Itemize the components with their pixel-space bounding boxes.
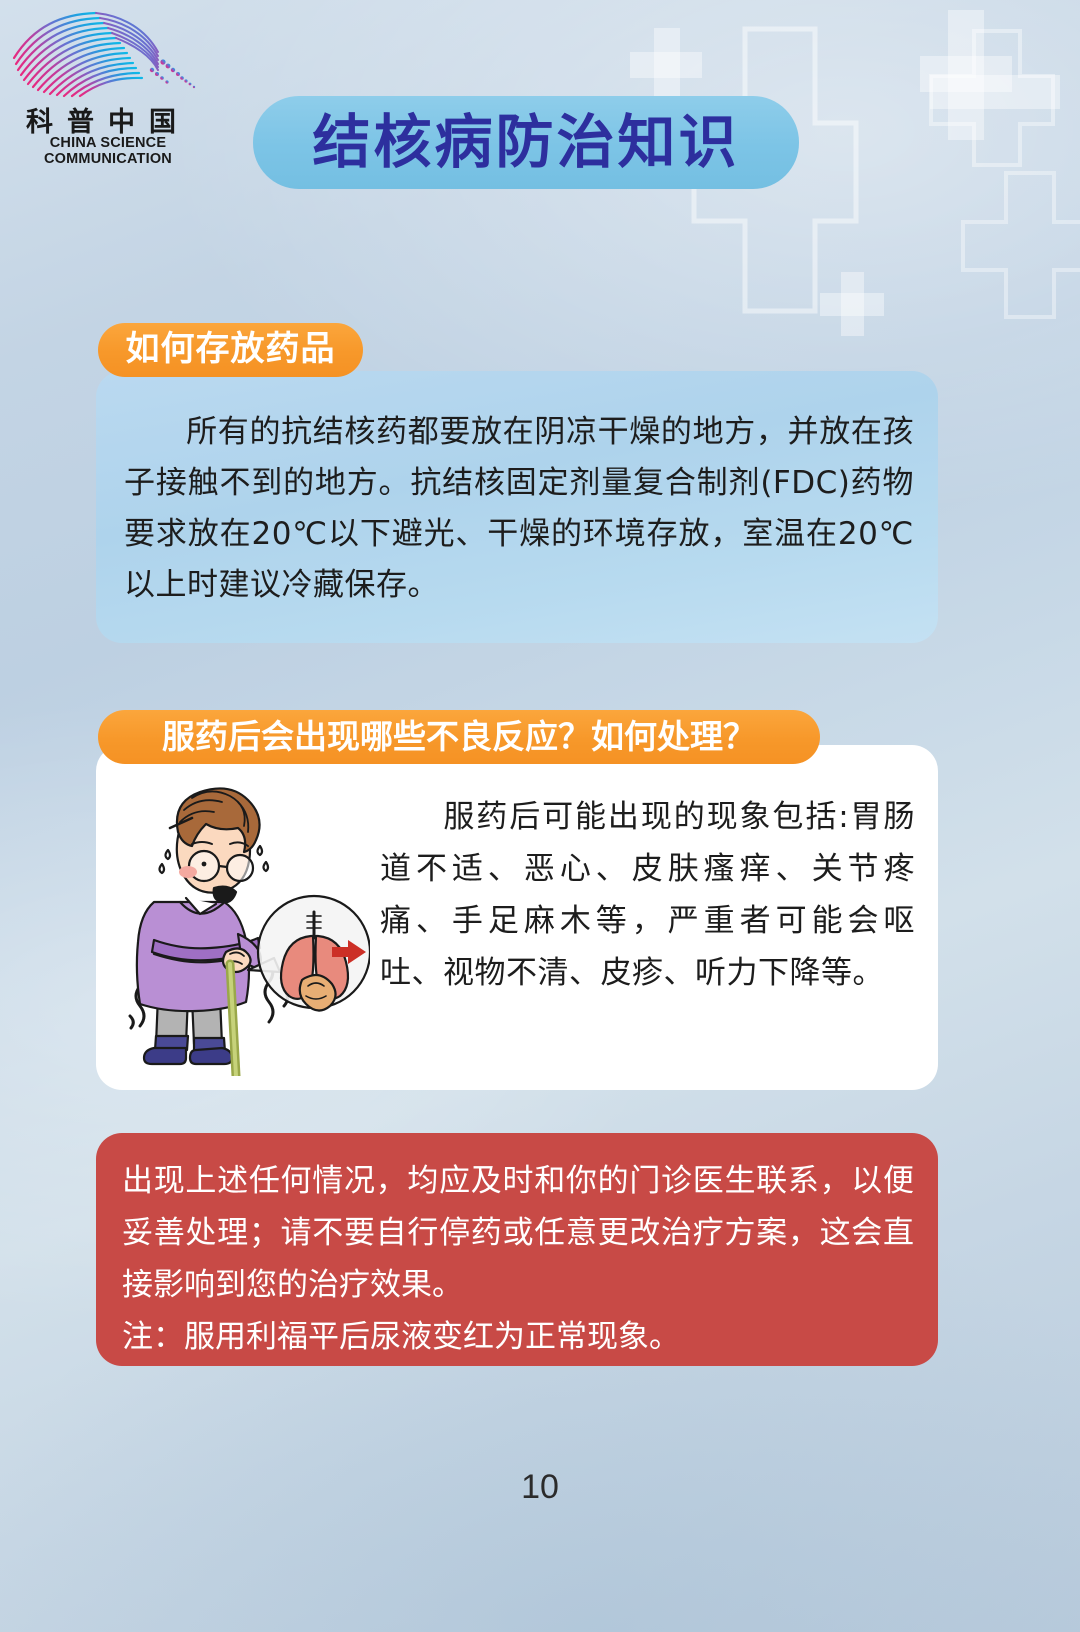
warning-body-value: 出现上述任何情况，均应及时和你的门诊医生联系，以便妥善处理；请不要自行停药或任意…: [122, 1163, 914, 1302]
warning-body-text: 出现上述任何情况，均应及时和你的门诊医生联系，以便妥善处理；请不要自行停药或任意…: [122, 1155, 914, 1311]
page-number: 10: [0, 1468, 1080, 1507]
decorative-cross-icon: [630, 28, 702, 100]
storage-body-value: 所有的抗结核药都要放在阴凉干燥的地方，并放在孩子接触不到的地方。抗结核固定剂量复…: [124, 414, 914, 603]
card-storage: 所有的抗结核药都要放在阴凉干燥的地方，并放在孩子接触不到的地方。抗结核固定剂量复…: [96, 371, 938, 643]
card-warning: 出现上述任何情况，均应及时和你的门诊医生联系，以便妥善处理；请不要自行停药或任意…: [96, 1133, 938, 1366]
decorative-cross-icon: [820, 272, 884, 336]
section-heading-label: 如何存放药品: [126, 332, 336, 366]
warning-note-text: 注：服用利福平后尿液变红为正常现象。: [122, 1311, 914, 1363]
elderly-woman-with-cane-illustration-icon: [118, 784, 370, 1076]
china-science-communication-logo-icon: [0, 4, 232, 114]
decorative-cross-icon: [930, 45, 1060, 137]
section-heading-reaction: 服药后会出现哪些不良反应？如何处理？: [98, 710, 820, 764]
brand-name-en: CHINA SCIENCE COMMUNICATION: [0, 135, 224, 167]
section-heading-storage: 如何存放药品: [98, 323, 363, 377]
decorative-cross-icon: [928, 28, 1056, 168]
decorative-cross-icon: [920, 10, 1012, 140]
brand-name-cn: 科普中国: [0, 100, 224, 139]
reaction-body-value: 服药后可能出现的现象包括:胃肠道不适、恶心、皮肤瘙痒、关节疼痛、手足麻木等，严重…: [380, 799, 915, 991]
storage-body-text: 所有的抗结核药都要放在阴凉干燥的地方，并放在孩子接触不到的地方。抗结核固定剂量复…: [124, 407, 914, 611]
warning-note-value: 注：服用利福平后尿液变红为正常现象。: [122, 1319, 680, 1354]
decorative-cross-icon: [960, 170, 1080, 320]
page-title-banner: 结核病防治知识: [253, 96, 799, 189]
reaction-body-text: 服药后可能出现的现象包括:胃肠道不适、恶心、皮肤瘙痒、关节疼痛、手足麻木等，严重…: [380, 791, 915, 999]
page-title: 结核病防治知识: [312, 113, 739, 171]
brand-logo: 科普中国 CHINA SCIENCE COMMUNICATION: [0, 4, 232, 164]
section-heading-label: 服药后会出现哪些不良反应？如何处理？: [162, 720, 756, 753]
poster-page: 科普中国 CHINA SCIENCE COMMUNICATION 结核病防治知识…: [0, 0, 1080, 1632]
